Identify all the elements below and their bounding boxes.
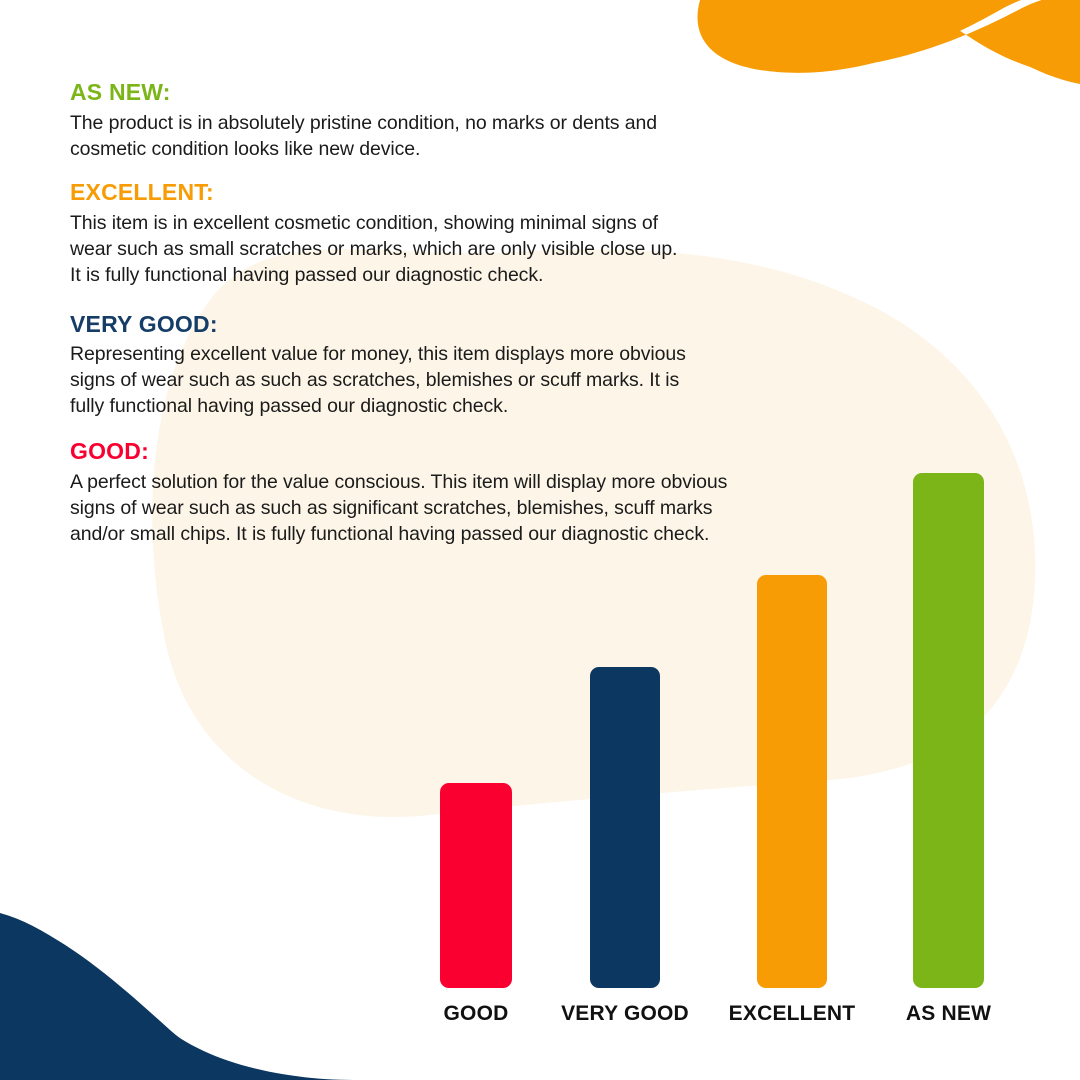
grade-colon-as-new: :	[163, 79, 171, 105]
grade-heading-as-new: AS NEW:	[70, 78, 830, 107]
grade-heading-very-good: VERY GOOD:	[70, 310, 830, 339]
grade-heading-good: GOOD:	[70, 437, 830, 466]
bar-label-good: GOOD	[444, 1002, 509, 1026]
grade-title-as-new: AS NEW	[70, 79, 163, 105]
grade-title-excellent: EXCELLENT	[70, 179, 206, 205]
grade-body-line: cosmetic condition looks like new device…	[70, 136, 830, 162]
bar-label-very-good: VERY GOOD	[561, 1002, 689, 1026]
grade-block-very-good: VERY GOOD: Representing excellent value …	[70, 310, 830, 420]
grade-title-good: GOOD	[70, 438, 141, 464]
grade-colon-good: :	[141, 438, 149, 464]
bar-label-excellent: EXCELLENT	[729, 1002, 856, 1026]
grade-body-line: signs of wear such as such as scratches,…	[70, 367, 830, 393]
grade-block-as-new: AS NEW: The product is in absolutely pri…	[70, 78, 830, 162]
bar-very-good	[590, 667, 660, 988]
grade-body-line: and/or small chips. It is fully function…	[70, 521, 830, 547]
grade-body-line: A perfect solution for the value conscio…	[70, 469, 830, 495]
grade-colon-excellent: :	[206, 179, 214, 205]
grade-body-as-new: The product is in absolutely pristine co…	[70, 110, 830, 162]
bar-good	[440, 783, 512, 988]
grade-heading-excellent: EXCELLENT:	[70, 178, 830, 207]
grade-body-line: The product is in absolutely pristine co…	[70, 110, 830, 136]
grade-colon-very-good: :	[210, 311, 218, 337]
grade-block-excellent: EXCELLENT: This item is in excellent cos…	[70, 178, 830, 288]
grade-block-good: GOOD: A perfect solution for the value c…	[70, 437, 830, 547]
grade-body-line: fully functional having passed our diagn…	[70, 393, 830, 419]
grade-title-very-good: VERY GOOD	[70, 311, 210, 337]
infographic-canvas: AS NEW: The product is in absolutely pri…	[0, 0, 1080, 1080]
bar-excellent	[757, 575, 827, 988]
bar-label-as-new: AS NEW	[906, 1002, 991, 1026]
grade-body-good: A perfect solution for the value conscio…	[70, 469, 830, 547]
grade-body-line: This item is in excellent cosmetic condi…	[70, 210, 830, 236]
bar-as-new	[913, 473, 984, 988]
grade-descriptions: AS NEW: The product is in absolutely pri…	[70, 78, 830, 547]
grade-body-line: It is fully functional having passed our…	[70, 262, 830, 288]
grade-body-line: signs of wear such as such as significan…	[70, 495, 830, 521]
grade-body-line: wear such as small scratches or marks, w…	[70, 236, 830, 262]
grade-body-line: Representing excellent value for money, …	[70, 341, 830, 367]
grade-body-excellent: This item is in excellent cosmetic condi…	[70, 210, 830, 288]
grade-body-very-good: Representing excellent value for money, …	[70, 341, 830, 419]
